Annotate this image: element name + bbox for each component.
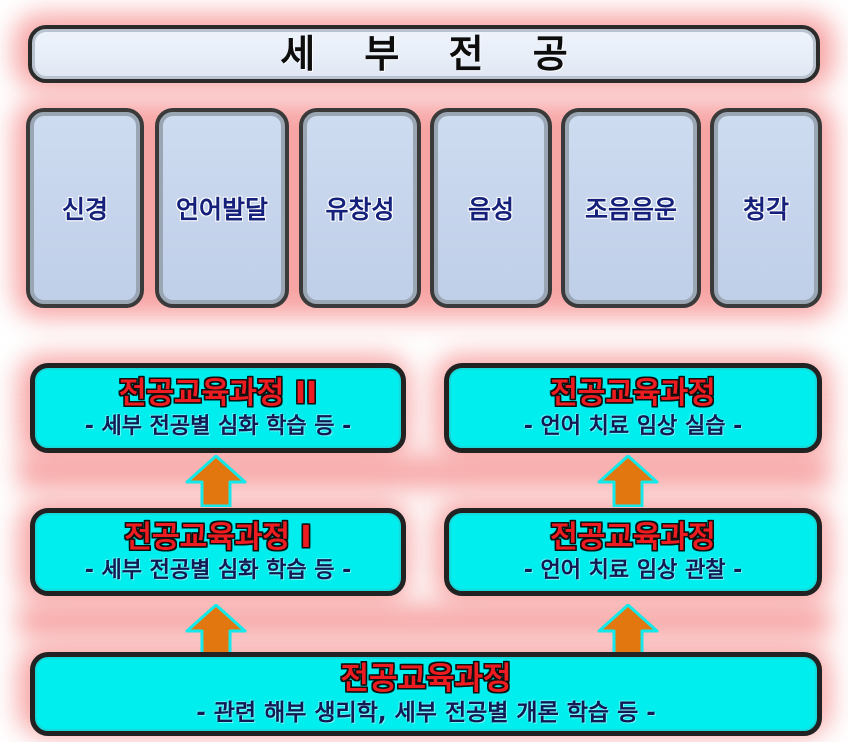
course-title: 전공교육과정 II	[119, 377, 317, 410]
course-title: 전공교육과정	[550, 377, 716, 410]
course-subtitle: - 세부 전공별 심화 학습 등 -	[85, 558, 352, 583]
course-box-major-curriculum-2[interactable]: 전공교육과정 II - 세부 전공별 심화 학습 등 -	[30, 363, 406, 453]
page-title: 세 부 전 공	[262, 35, 586, 73]
specialty-label: 조음음운	[585, 190, 677, 226]
specialty-box-language-development[interactable]: 언어발달	[155, 108, 289, 308]
specialty-label: 청각	[743, 190, 789, 226]
specialty-box-articulation-phonology[interactable]: 조음음운	[561, 108, 701, 308]
curriculum-diagram: 세 부 전 공 신경 언어발달 유창성 음성 조음음운 청각 전공교육과정 II…	[0, 0, 848, 742]
specialty-box-voice[interactable]: 음성	[430, 108, 552, 308]
course-title: 전공교육과정 I	[124, 521, 311, 554]
specialty-label: 신경	[62, 190, 108, 226]
course-title: 전공교육과정	[340, 662, 511, 696]
specialty-label: 언어발달	[176, 190, 268, 226]
course-subtitle: - 세부 전공별 심화 학습 등 -	[85, 414, 352, 439]
glow-arrow-band-upper	[18, 455, 830, 489]
arrow-base-to-left-lower	[185, 604, 247, 656]
specialty-label: 음성	[468, 190, 514, 226]
course-box-clinical-observation[interactable]: 전공교육과정 - 언어 치료 임상 관찰 -	[444, 508, 822, 596]
course-title: 전공교육과정	[550, 521, 716, 554]
header-box: 세 부 전 공	[28, 25, 820, 83]
arrow-right-lower-to-upper	[597, 455, 659, 507]
course-box-foundation-curriculum[interactable]: 전공교육과정 - 관련 해부 생리학, 세부 전공별 개론 학습 등 -	[30, 652, 822, 736]
specialty-label: 유창성	[325, 190, 394, 226]
specialty-box-neuro[interactable]: 신경	[26, 108, 144, 308]
arrow-left-lower-to-upper	[185, 455, 247, 507]
specialty-box-hearing[interactable]: 청각	[710, 108, 822, 308]
glow-arrow-band-lower	[18, 604, 830, 638]
course-subtitle: - 언어 치료 임상 실습 -	[524, 414, 742, 439]
course-subtitle: - 언어 치료 임상 관찰 -	[524, 558, 742, 583]
course-box-clinical-practicum[interactable]: 전공교육과정 - 언어 치료 임상 실습 -	[444, 363, 822, 453]
course-subtitle: - 관련 해부 생리학, 세부 전공별 개론 학습 등 -	[196, 700, 656, 726]
specialty-box-fluency[interactable]: 유창성	[299, 108, 421, 308]
arrow-base-to-right-lower	[597, 604, 659, 656]
course-box-major-curriculum-1[interactable]: 전공교육과정 I - 세부 전공별 심화 학습 등 -	[30, 508, 406, 596]
